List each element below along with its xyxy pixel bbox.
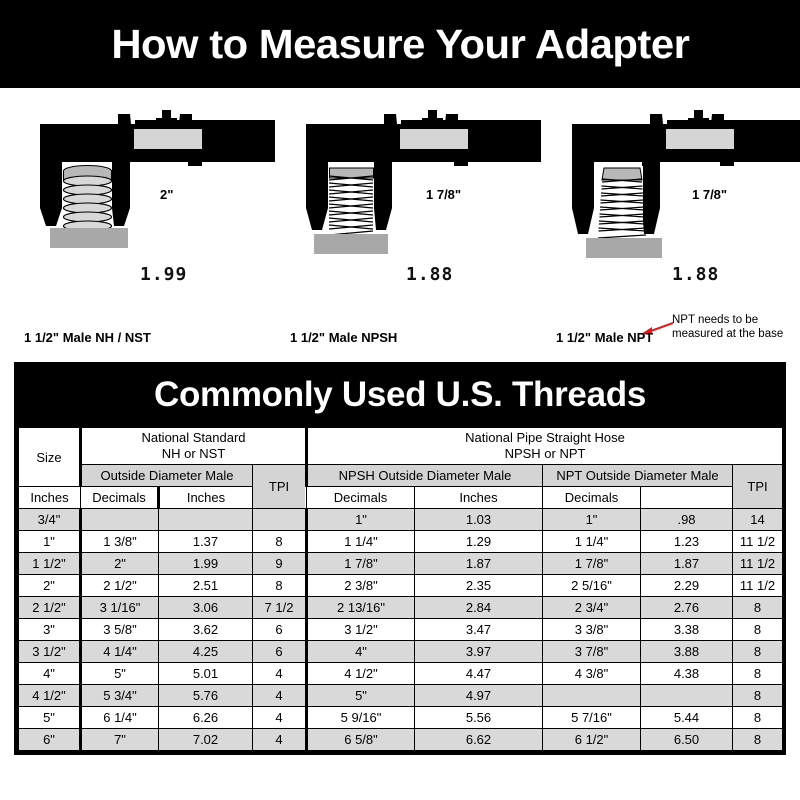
cell-npsh-inches: 1 1/4" — [307, 531, 415, 553]
caliper-diagram-nh-nst: 2" — [12, 88, 282, 356]
cell-np-tpi: 8 — [733, 729, 783, 751]
cell-size: 5" — [19, 707, 81, 729]
cell-size: 6" — [19, 729, 81, 751]
table-row: 6"7"7.0246 5/8"6.626 1/2"6.508 — [19, 729, 783, 751]
cell-npsh-inches: 2 3/8" — [307, 575, 415, 597]
cell-np-tpi: 8 — [733, 685, 783, 707]
caliper-lcd-reading-npsh: 1.88 — [406, 264, 453, 285]
cell-size: 3" — [19, 619, 81, 641]
table-header-row-units: Inches Decimals Inches Decimals Inches D… — [19, 487, 783, 509]
cell-size: 4 1/2" — [19, 685, 81, 707]
table-row: 1"1 3/8"1.3781 1/4"1.291 1/4"1.2311 1/2 — [19, 531, 783, 553]
table-row: 3/4"1"1.031".9814 — [19, 509, 783, 531]
cell-nh-decimals: 2.51 — [159, 575, 253, 597]
cell-nh-inches: 3 5/8" — [81, 619, 159, 641]
cell-nh-tpi: 4 — [253, 707, 307, 729]
cell-nh-decimals: 5.01 — [159, 663, 253, 685]
cell-npt-decimals: 2.76 — [641, 597, 733, 619]
caption-npt: 1 1/2" Male NPT — [556, 330, 653, 345]
caliper-lcd-reading-nh-nst: 1.99 — [140, 264, 187, 285]
cell-nh-inches: 2" — [81, 553, 159, 575]
cell-npt-inches: 3 7/8" — [543, 641, 641, 663]
cell-npsh-inches: 1" — [307, 509, 415, 531]
caliper-illustration-nh-nst — [12, 88, 282, 356]
cell-npsh-decimals: 3.47 — [415, 619, 543, 641]
col-header-npt-decimals: Decimals — [543, 487, 641, 509]
col-header-npt-od-male: NPT Outside Diameter Male — [543, 465, 733, 487]
cell-size: 2 1/2" — [19, 597, 81, 619]
cell-npsh-decimals: 2.84 — [415, 597, 543, 619]
measurement-label-npsh: 1 7/8" — [426, 187, 461, 202]
table-row: 1 1/2"2"1.9991 7/8"1.871 7/8"1.8711 1/2 — [19, 553, 783, 575]
cell-npt-inches: 2 3/4" — [543, 597, 641, 619]
table-row: 2 1/2"3 1/16"3.067 1/22 13/16"2.842 3/4"… — [19, 597, 783, 619]
measurement-label-nh-nst: 2" — [160, 187, 173, 202]
cell-np-tpi: 14 — [733, 509, 783, 531]
cell-nh-decimals: 6.26 — [159, 707, 253, 729]
col-header-nh-inches: Inches — [19, 487, 81, 509]
cell-npt-inches — [543, 685, 641, 707]
col-header-npsh-inches: Inches — [159, 487, 253, 509]
cell-npt-inches: 2 5/16" — [543, 575, 641, 597]
threads-table-panel: Commonly Used U.S. Threads Size National… — [14, 362, 786, 755]
caption-nh-nst: 1 1/2" Male NH / NST — [24, 330, 151, 345]
cell-npt-decimals: .98 — [641, 509, 733, 531]
cell-nh-tpi: 4 — [253, 663, 307, 685]
cell-npt-decimals: 4.38 — [641, 663, 733, 685]
caliper-diagram-section: 2" 1 7/8" — [0, 88, 800, 356]
cell-nh-decimals: 1.37 — [159, 531, 253, 553]
cell-nh-decimals: 4.25 — [159, 641, 253, 663]
cell-nh-inches: 4 1/4" — [81, 641, 159, 663]
cell-npsh-inches: 2 13/16" — [307, 597, 415, 619]
caption-npsh: 1 1/2" Male NPSH — [290, 330, 397, 345]
cell-np-tpi: 8 — [733, 597, 783, 619]
group-np-line-2: NPSH or NPT — [309, 446, 781, 462]
cell-nh-tpi — [253, 509, 307, 531]
cell-nh-tpi: 6 — [253, 641, 307, 663]
caliper-lcd-reading-npt: 1.88 — [672, 264, 719, 285]
table-row: 5"6 1/4"6.2645 9/16"5.565 7/16"5.448 — [19, 707, 783, 729]
page-title-bar: How to Measure Your Adapter — [0, 0, 800, 88]
cell-nh-inches: 2 1/2" — [81, 575, 159, 597]
col-header-npsh-od-male: NPSH Outside Diameter Male — [307, 465, 543, 487]
cell-npsh-decimals: 3.97 — [415, 641, 543, 663]
npt-note-line-1: NPT needs to be — [672, 314, 783, 328]
cell-npt-decimals: 3.38 — [641, 619, 733, 641]
cell-nh-decimals: 3.62 — [159, 619, 253, 641]
cell-npsh-inches: 3 1/2" — [307, 619, 415, 641]
measurement-label-npt: 1 7/8" — [692, 187, 727, 202]
cell-nh-inches: 5 3/4" — [81, 685, 159, 707]
cell-nh-decimals: 1.99 — [159, 553, 253, 575]
cell-size: 1" — [19, 531, 81, 553]
col-header-nh-decimals: Decimals — [81, 487, 159, 509]
cell-npsh-decimals: 6.62 — [415, 729, 543, 751]
cell-npsh-inches: 4" — [307, 641, 415, 663]
cell-npsh-decimals: 4.97 — [415, 685, 543, 707]
cell-npt-decimals: 1.23 — [641, 531, 733, 553]
npt-note: NPT needs to be measured at the base — [672, 314, 783, 341]
cell-np-tpi: 8 — [733, 619, 783, 641]
cell-nh-decimals: 3.06 — [159, 597, 253, 619]
cell-size: 3/4" — [19, 509, 81, 531]
cell-size: 1 1/2" — [19, 553, 81, 575]
cell-npt-inches: 1 7/8" — [543, 553, 641, 575]
table-row: 2"2 1/2"2.5182 3/8"2.352 5/16"2.2911 1/2 — [19, 575, 783, 597]
col-header-npsh-decimals: Decimals — [307, 487, 415, 509]
cell-nh-inches: 5" — [81, 663, 159, 685]
cell-npt-decimals: 2.29 — [641, 575, 733, 597]
col-header-npt-inches: Inches — [415, 487, 543, 509]
cell-nh-tpi: 9 — [253, 553, 307, 575]
table-row: 3"3 5/8"3.6263 1/2"3.473 3/8"3.388 — [19, 619, 783, 641]
cell-nh-tpi: 7 1/2 — [253, 597, 307, 619]
group-np-line-1: National Pipe Straight Hose — [309, 430, 781, 446]
threads-table-title: Commonly Used U.S. Threads — [18, 366, 782, 427]
table-header-row-groups: Size National Standard NH or NST Nationa… — [19, 428, 783, 465]
cell-size: 3 1/2" — [19, 641, 81, 663]
threads-table: Size National Standard NH or NST Nationa… — [18, 427, 783, 751]
cell-nh-tpi: 8 — [253, 531, 307, 553]
cell-npt-inches: 6 1/2" — [543, 729, 641, 751]
cell-npt-inches: 5 7/16" — [543, 707, 641, 729]
caliper-diagram-npsh: 1 7/8" — [278, 88, 548, 356]
cell-nh-tpi: 8 — [253, 575, 307, 597]
col-group-national-standard: National Standard NH or NST — [81, 428, 307, 465]
table-row: 4 1/2"5 3/4"5.7645"4.978 — [19, 685, 783, 707]
cell-size: 2" — [19, 575, 81, 597]
col-header-nh-od-male: Outside Diameter Male — [81, 465, 253, 487]
group-nh-line-2: NH or NST — [83, 446, 304, 462]
cell-nh-tpi: 4 — [253, 685, 307, 707]
table-row: 4"5"5.0144 1/2"4.474 3/8"4.388 — [19, 663, 783, 685]
table-header-row-subgroups: Outside Diameter Male TPI NPSH Outside D… — [19, 465, 783, 487]
cell-npt-inches: 3 3/8" — [543, 619, 641, 641]
col-header-nh-tpi: TPI — [253, 465, 307, 509]
cell-npsh-decimals: 1.87 — [415, 553, 543, 575]
cell-np-tpi: 8 — [733, 641, 783, 663]
cell-nh-inches: 6 1/4" — [81, 707, 159, 729]
cell-npt-decimals: 3.88 — [641, 641, 733, 663]
table-row: 3 1/2"4 1/4"4.2564"3.973 7/8"3.888 — [19, 641, 783, 663]
cell-size: 4" — [19, 663, 81, 685]
col-group-national-pipe-straight-hose: National Pipe Straight Hose NPSH or NPT — [307, 428, 783, 465]
cell-npsh-decimals: 2.35 — [415, 575, 543, 597]
cell-npsh-decimals: 1.29 — [415, 531, 543, 553]
cell-nh-inches — [81, 509, 159, 531]
cell-np-tpi: 11 1/2 — [733, 553, 783, 575]
cell-nh-inches: 3 1/16" — [81, 597, 159, 619]
cell-nh-tpi: 4 — [253, 729, 307, 751]
col-header-np-tpi: TPI — [733, 465, 783, 509]
col-header-size: Size — [19, 428, 81, 487]
cell-npsh-inches: 1 7/8" — [307, 553, 415, 575]
cell-np-tpi: 11 1/2 — [733, 575, 783, 597]
cell-npt-inches: 1 1/4" — [543, 531, 641, 553]
cell-npsh-inches: 4 1/2" — [307, 663, 415, 685]
cell-npt-inches: 1" — [543, 509, 641, 531]
npt-note-line-2: measured at the base — [672, 328, 783, 342]
cell-npsh-inches: 6 5/8" — [307, 729, 415, 751]
threads-table-body: 3/4"1"1.031".98141"1 3/8"1.3781 1/4"1.29… — [19, 509, 783, 751]
threads-table-head: Size National Standard NH or NST Nationa… — [19, 428, 783, 509]
group-nh-line-1: National Standard — [83, 430, 304, 446]
cell-npt-decimals: 5.44 — [641, 707, 733, 729]
cell-npt-decimals — [641, 685, 733, 707]
flame-logo-icon — [0, 266, 12, 278]
cell-nh-decimals — [159, 509, 253, 531]
cell-nh-tpi: 6 — [253, 619, 307, 641]
caliper-illustration-npsh — [278, 88, 548, 356]
cell-nh-inches: 1 3/8" — [81, 531, 159, 553]
cell-np-tpi: 8 — [733, 707, 783, 729]
cell-npsh-inches: 5 9/16" — [307, 707, 415, 729]
cell-npsh-decimals: 4.47 — [415, 663, 543, 685]
cell-npt-decimals: 1.87 — [641, 553, 733, 575]
page-title: How to Measure Your Adapter — [111, 21, 689, 68]
cell-nh-decimals: 7.02 — [159, 729, 253, 751]
cell-npsh-inches: 5" — [307, 685, 415, 707]
cell-npt-decimals: 6.50 — [641, 729, 733, 751]
cell-np-tpi: 8 — [733, 663, 783, 685]
cell-npt-inches: 4 3/8" — [543, 663, 641, 685]
cell-nh-decimals: 5.76 — [159, 685, 253, 707]
cell-nh-inches: 7" — [81, 729, 159, 751]
cell-np-tpi: 11 1/2 — [733, 531, 783, 553]
cell-npsh-decimals: 5.56 — [415, 707, 543, 729]
cell-npsh-decimals: 1.03 — [415, 509, 543, 531]
